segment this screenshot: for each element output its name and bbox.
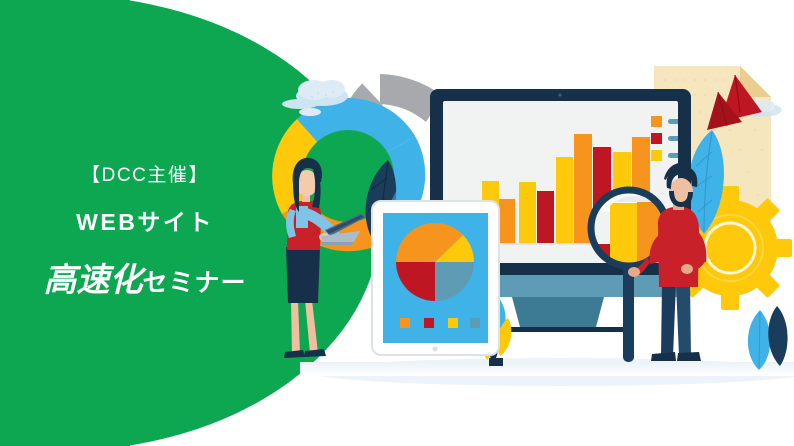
seminar-banner: 【DCC主催】 WEBサイト 高速化セミナー <box>0 0 794 446</box>
headline-block: 【DCC主催】 WEBサイト 高速化セミナー <box>0 160 290 301</box>
floor-shadow <box>300 358 794 386</box>
leaf-plant-bottom-right <box>748 306 788 370</box>
pie-chart <box>396 223 474 301</box>
tablet-device <box>372 201 499 355</box>
headline-line-1: 【DCC主催】 <box>0 160 290 187</box>
headline-suffix: セミナー <box>142 269 246 297</box>
headline-emphasis: 高速化 <box>43 261 142 298</box>
headline-line-2: WEBサイト <box>0 203 290 237</box>
headline-line-3: 高速化セミナー <box>0 253 290 301</box>
